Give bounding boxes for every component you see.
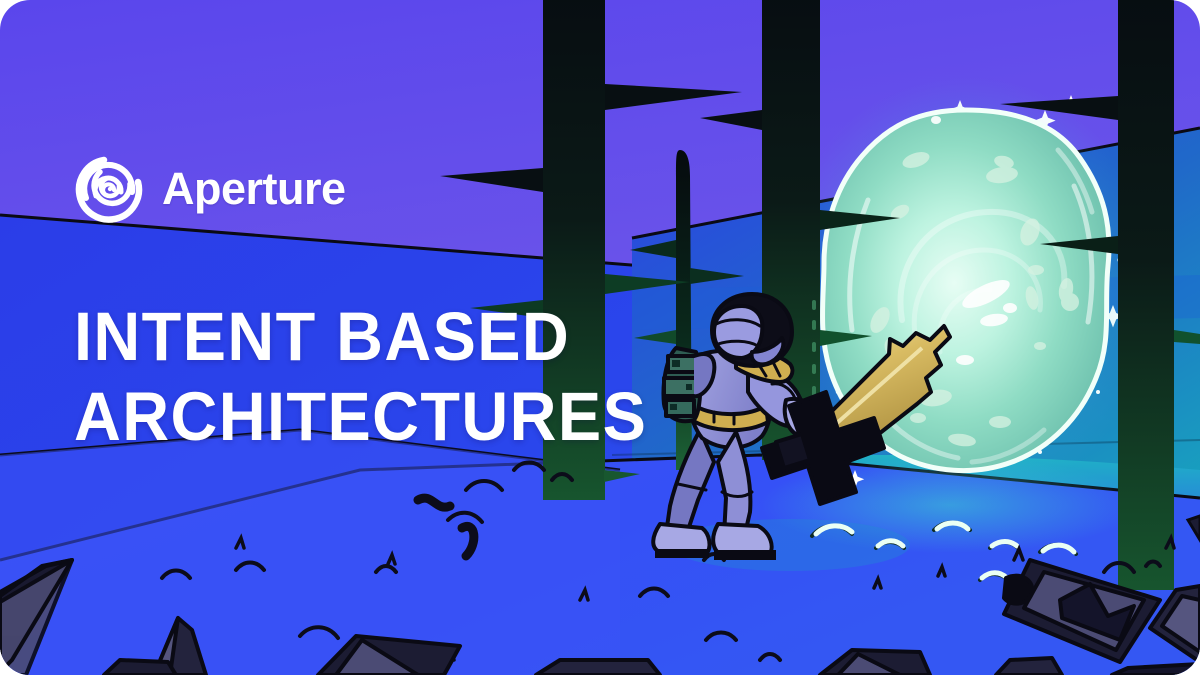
banner-canvas: Aperture INTENT BASED ARCHITECTURES (0, 0, 1200, 675)
page-title: INTENT BASED ARCHITECTURES (74, 304, 788, 450)
headline-line-2: ARCHITECTURES (74, 384, 788, 450)
headline-line-1: INTENT BASED (74, 304, 788, 370)
aperture-spiral-icon (74, 152, 146, 224)
brand-lockup[interactable]: Aperture (74, 152, 346, 224)
brand-name: Aperture (162, 166, 346, 211)
